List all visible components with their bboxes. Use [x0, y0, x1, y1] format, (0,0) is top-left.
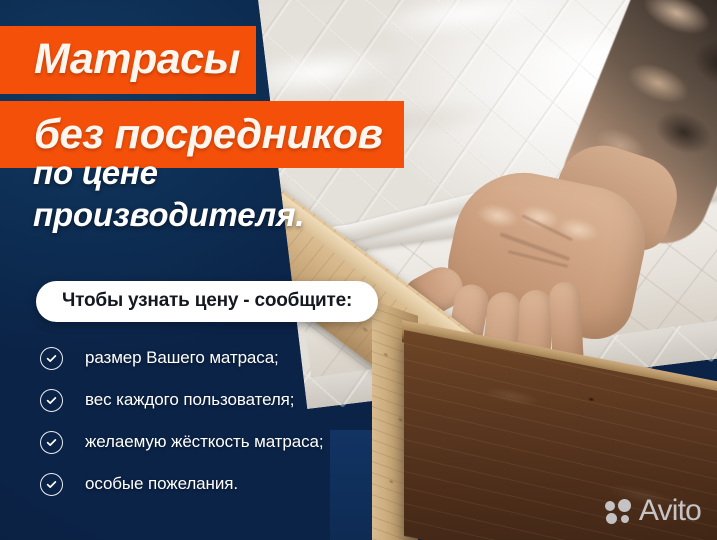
checklist-item-label: вес каждого пользователя; [85, 390, 294, 410]
cta-pill-label: Чтобы узнать цену - сообщите: [36, 281, 378, 322]
checklist-item: особые пожелания. [40, 463, 323, 505]
subheadline-block: по цене производителя. [33, 152, 304, 236]
checklist-item: размер Вашего матраса; [40, 337, 323, 379]
headline-block: Матрасы без посредников [0, 26, 404, 168]
checklist-item: вес каждого пользователя; [40, 379, 323, 421]
checklist-item-label: желаемую жёсткость матраса; [85, 432, 323, 452]
checklist-item-label: особые пожелания. [85, 474, 238, 494]
check-circle-icon [40, 347, 63, 370]
mattress-advertisement-banner: Матрасы без посредников по цене производ… [0, 0, 717, 540]
avito-dots-logo-icon [605, 499, 632, 524]
headline-band-line-1: Матрасы [0, 26, 256, 94]
check-circle-icon [40, 389, 63, 412]
requirements-checklist: размер Вашего матраса; вес каждого польз… [40, 337, 323, 505]
subheadline-line-1: по цене [33, 152, 304, 194]
avito-wordmark: Avito [639, 496, 701, 526]
check-circle-icon [40, 473, 63, 496]
subheadline-line-2: производителя. [33, 194, 304, 236]
check-circle-icon [40, 431, 63, 454]
checklist-item-label: размер Вашего матраса; [85, 348, 279, 368]
avito-watermark: Avito [605, 496, 701, 526]
checklist-item: желаемую жёсткость матраса; [40, 421, 323, 463]
